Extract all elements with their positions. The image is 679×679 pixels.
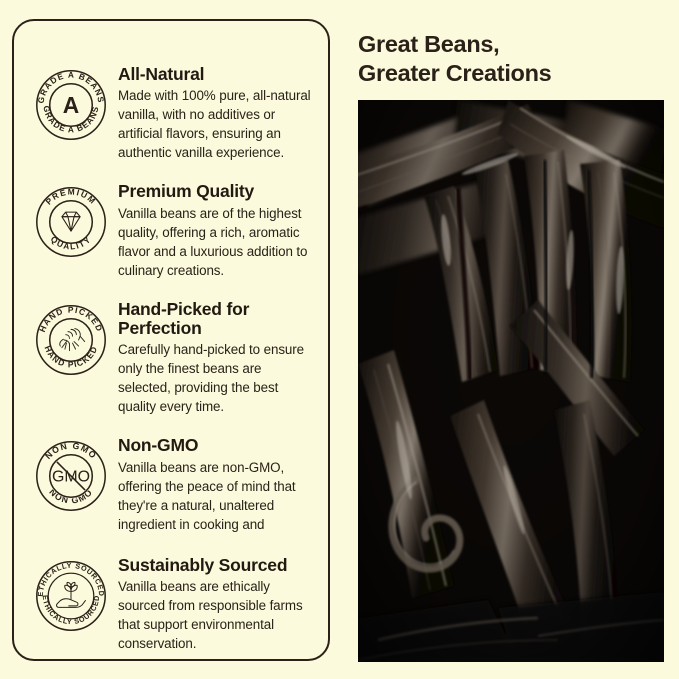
feature-description: Made with 100% pure, all-natural vanilla… (118, 86, 312, 162)
feature-item-non-gmo: NON GMO NON GMO GMO Non-GMO Vanilla bean… (28, 436, 314, 533)
hand-picked-badge-icon: HAND PICKED HAND PICKED (33, 302, 109, 378)
feature-text-block: Hand-Picked for Perfection Carefully han… (114, 300, 314, 417)
badge-container: PREMIUM QUALITY (28, 182, 114, 260)
feature-description: Carefully hand-picked to ensure only the… (118, 340, 312, 416)
feature-item-sustainably-sourced: ETHICALLY SOURCED ETHICALLY SOURCED (28, 556, 314, 653)
feature-text-block: Premium Quality Vanilla beans are of the… (114, 182, 314, 279)
feature-title: Hand-Picked for Perfection (118, 300, 312, 339)
vanilla-beans-photo (358, 100, 664, 662)
product-feature-card: GRADE A BEANS GRADE A BEANS A All-Natura… (0, 0, 679, 679)
svg-text:A: A (63, 92, 79, 118)
feature-text-block: Non-GMO Vanilla beans are non-GMO, offer… (114, 436, 314, 533)
ethically-sourced-badge-icon: ETHICALLY SOURCED ETHICALLY SOURCED (33, 558, 109, 634)
feature-title: Non-GMO (118, 436, 312, 455)
feature-title: Sustainably Sourced (118, 556, 312, 575)
badge-container: NON GMO NON GMO GMO (28, 436, 114, 514)
feature-description: Vanilla beans are non-GMO, offering the … (118, 458, 312, 534)
vanilla-beans-photo-graphic (358, 100, 664, 662)
feature-title: Premium Quality (118, 182, 312, 201)
svg-text:QUALITY: QUALITY (49, 234, 94, 252)
svg-text:PREMIUM: PREMIUM (43, 187, 98, 207)
svg-text:NON GMO: NON GMO (43, 441, 99, 462)
feature-item-hand-picked: HAND PICKED HAND PICKED (28, 300, 314, 417)
features-panel: GRADE A BEANS GRADE A BEANS A All-Natura… (12, 19, 330, 661)
premium-quality-diamond-badge-icon: PREMIUM QUALITY (33, 184, 109, 260)
feature-description: Vanilla beans are ethically sourced from… (118, 577, 312, 653)
feature-title: All-Natural (118, 65, 312, 84)
badge-container: GRADE A BEANS GRADE A BEANS A (28, 65, 114, 143)
page-title: Great Beans, Greater Creations (358, 30, 664, 88)
feature-item-all-natural: GRADE A BEANS GRADE A BEANS A All-Natura… (28, 65, 314, 162)
badge-container: HAND PICKED HAND PICKED (28, 300, 114, 378)
non-gmo-badge-icon: NON GMO NON GMO GMO (33, 438, 109, 514)
feature-text-block: All-Natural Made with 100% pure, all-nat… (114, 65, 314, 162)
feature-description: Vanilla beans are of the highest quality… (118, 204, 312, 280)
promo-panel: Great Beans, Greater Creations (358, 19, 664, 662)
badge-container: ETHICALLY SOURCED ETHICALLY SOURCED (28, 556, 114, 634)
grade-a-beans-badge-icon: GRADE A BEANS GRADE A BEANS A (33, 67, 109, 143)
svg-text:HAND PICKED: HAND PICKED (43, 344, 100, 369)
feature-text-block: Sustainably Sourced Vanilla beans are et… (114, 556, 314, 653)
feature-item-premium-quality: PREMIUM QUALITY Premium Quality Vanilla … (28, 182, 314, 279)
